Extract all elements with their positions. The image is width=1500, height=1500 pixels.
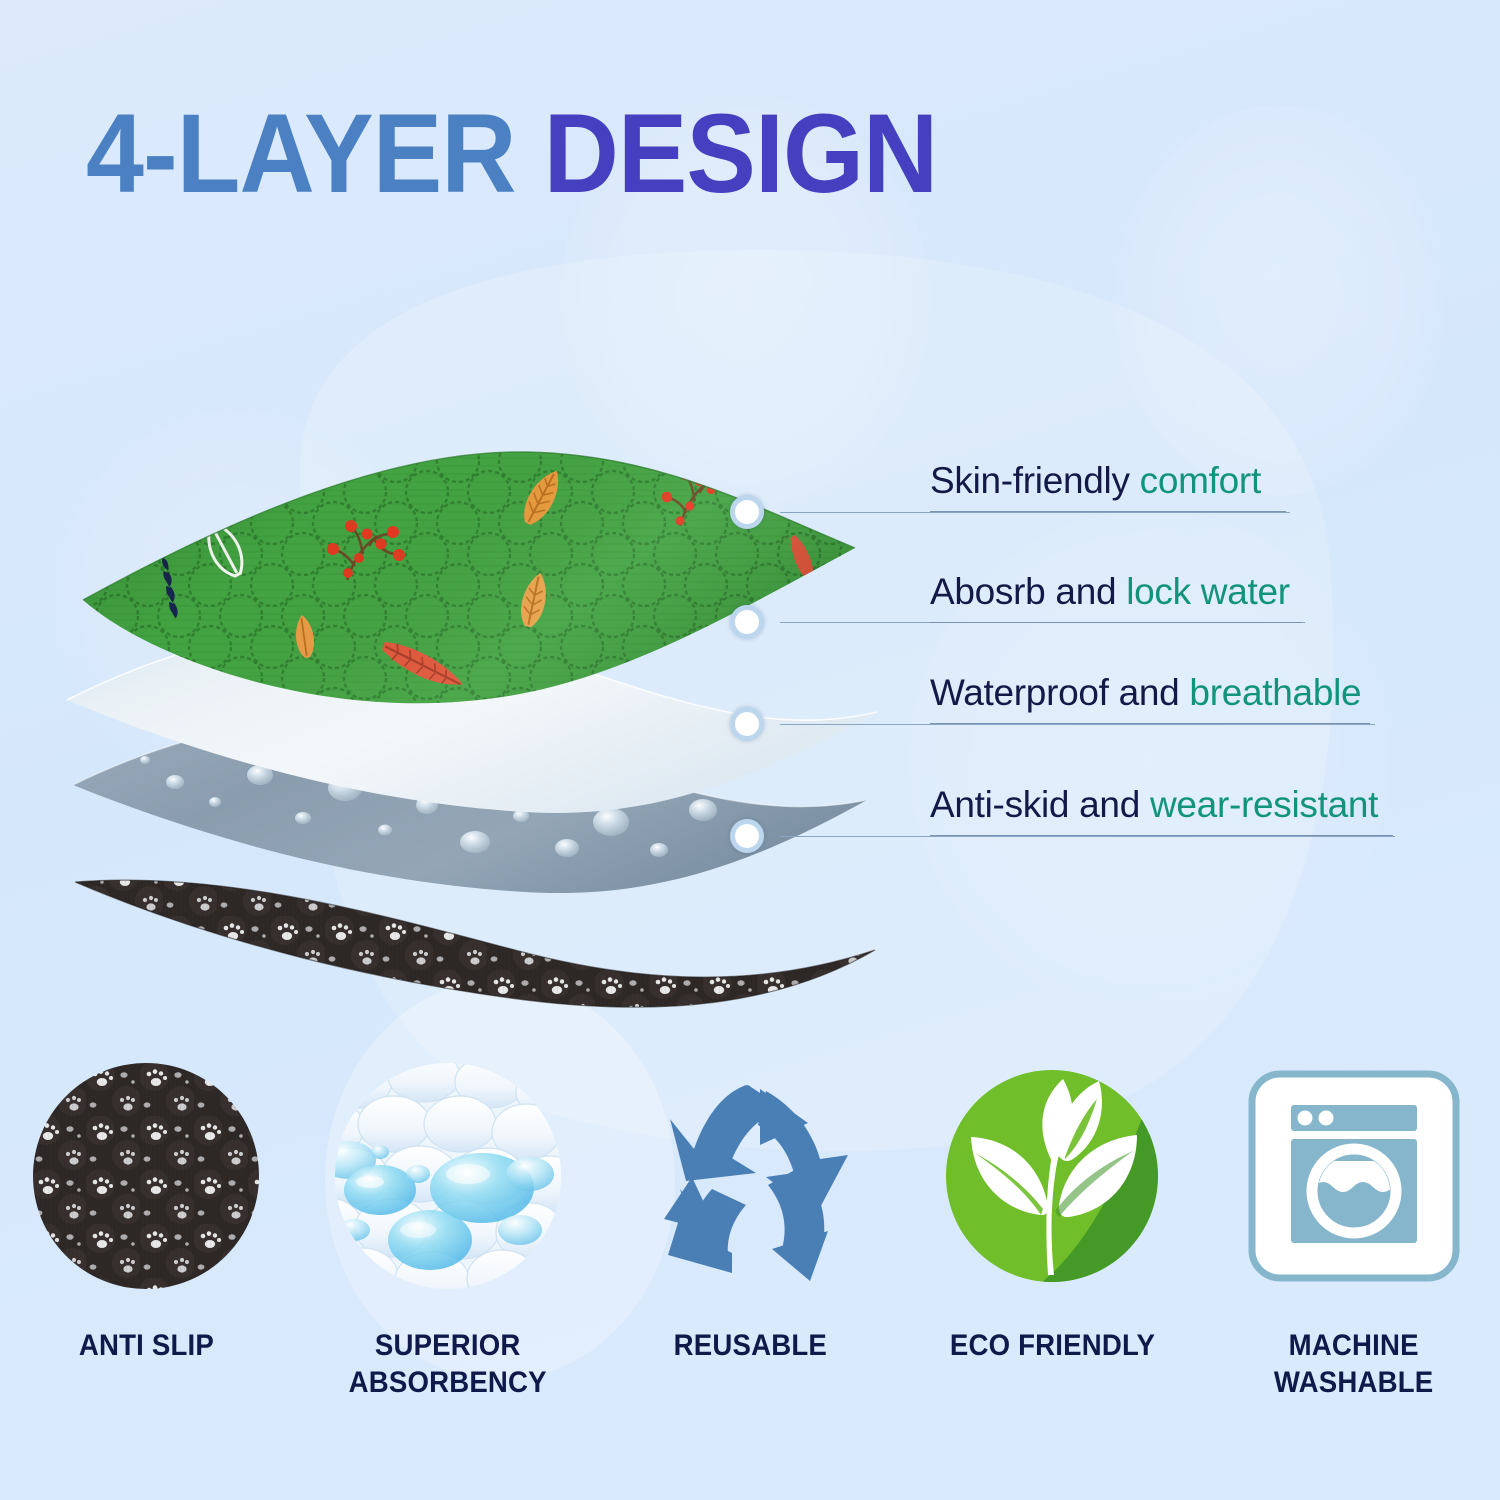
callout-1-teal: lock water [1116, 571, 1290, 612]
page-title-part-b: DESIGN [516, 91, 938, 216]
callout-3-dark: Anti-skid and [930, 784, 1140, 825]
feature-superior-absorbency: SUPERIORABSORBENCY [322, 1060, 574, 1401]
callout-label-absorb-lock-water: Abosrb and lock water [930, 573, 1290, 610]
page-title-part-a: 4-LAYER [86, 91, 516, 216]
callout-label-waterproof-breathable: Waterproof and breathable [930, 674, 1361, 711]
callout-label-antiskid-wear-resistant: Anti-skid and wear-resistant [930, 786, 1378, 823]
antislip-fabric-swatch-icon [30, 1060, 262, 1292]
callout-2-teal: breathable [1179, 672, 1361, 713]
feature-label-reusable: REUSABLE [673, 1328, 826, 1365]
feature-label-eco-friendly: ECO FRIENDLY [949, 1328, 1154, 1365]
feature-reusable: REUSABLE [624, 1060, 876, 1365]
infographic-canvas: 4-LAYER DESIGN [0, 0, 1500, 1500]
water-droplet-absorbency-icon [332, 1060, 564, 1292]
callout-0-teal: comfort [1130, 460, 1261, 501]
callout-2-rule [930, 723, 1370, 724]
feature-icon-row: ANTI SLIP [0, 1060, 1500, 1460]
washing-machine-icon [1238, 1060, 1470, 1292]
feature-eco-friendly: ECO FRIENDLY [926, 1060, 1178, 1365]
callout-dot-1 [730, 605, 764, 639]
callout-3-teal: wear-resistant [1140, 784, 1378, 825]
callout-2-dark: Waterproof and [930, 672, 1179, 713]
feature-label-superior-absorbency: SUPERIORABSORBENCY [349, 1328, 547, 1401]
callout-0-rule [930, 511, 1286, 512]
callout-dot-2 [730, 707, 764, 741]
leader-line-3 [780, 836, 1395, 837]
leader-line-0 [780, 512, 1290, 513]
feature-label-anti-slip: ANTI SLIP [78, 1328, 213, 1365]
feature-label-machine-washable: MACHINEWASHABLE [1274, 1328, 1433, 1401]
callout-dot-0 [730, 495, 764, 529]
page-title: 4-LAYER DESIGN [86, 98, 937, 210]
leaf-sprout-icon [936, 1060, 1168, 1292]
callout-1-dark: Abosrb and [930, 571, 1116, 612]
callout-0-dark: Skin-friendly [930, 460, 1130, 501]
callout-dot-3 [730, 819, 764, 853]
recycle-icon [634, 1060, 866, 1292]
feature-anti-slip: ANTI SLIP [20, 1060, 272, 1365]
callout-1-rule [930, 622, 1301, 623]
callout-label-skin-friendly: Skin-friendly comfort [930, 462, 1261, 499]
layer-antislip [75, 880, 875, 1007]
callout-3-rule [930, 835, 1393, 836]
feature-machine-washable: MACHINEWASHABLE [1228, 1060, 1480, 1401]
leader-line-2 [780, 724, 1375, 725]
